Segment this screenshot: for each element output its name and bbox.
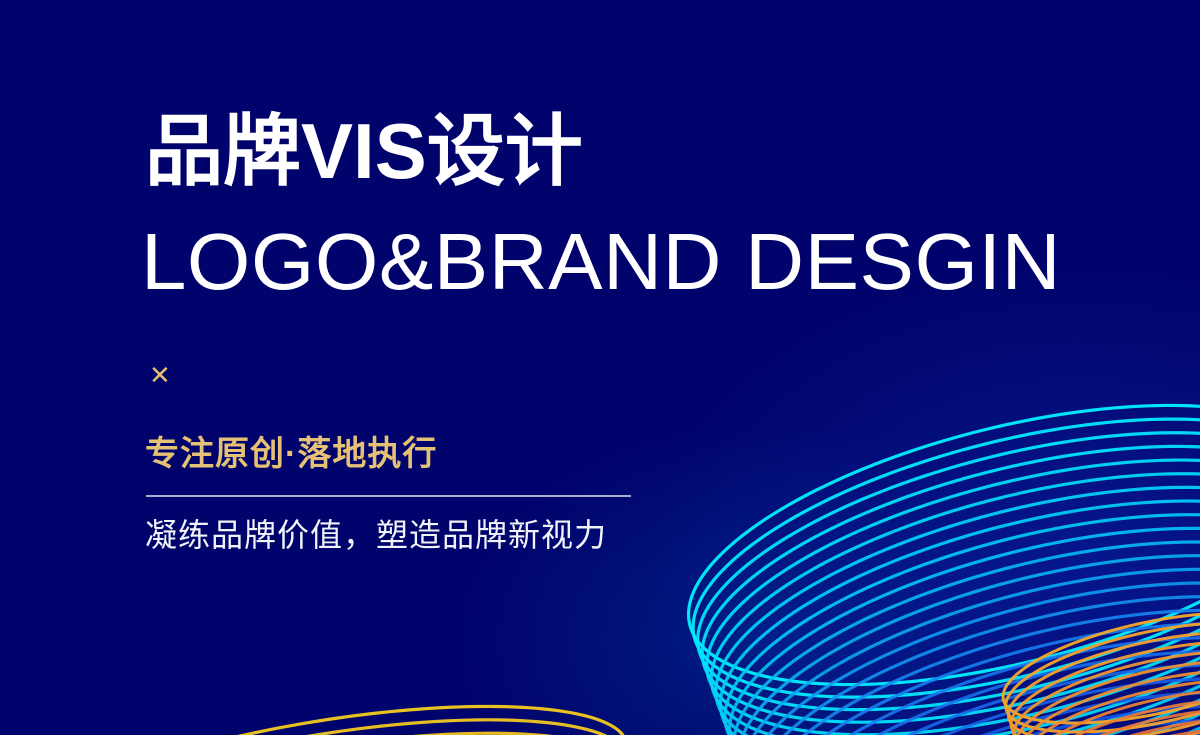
page-title-en: LOGO&BRAND DESGIN [141, 222, 1061, 302]
cross-icon: ✕ [149, 362, 171, 388]
brand-vis-banner: 品牌VIS设计 LOGO&BRAND DESGIN ✕ 专注原创·落地执行 凝练… [0, 0, 1200, 735]
tagline-primary: 专注原创·落地执行 [145, 437, 437, 471]
tagline-secondary: 凝练品牌价值，塑造品牌新视力 [145, 515, 607, 557]
banner-text-block: 品牌VIS设计 LOGO&BRAND DESGIN ✕ 专注原创·落地执行 凝练… [145, 0, 905, 735]
page-title-cn: 品牌VIS设计 [145, 112, 583, 190]
divider-rule [146, 495, 631, 497]
